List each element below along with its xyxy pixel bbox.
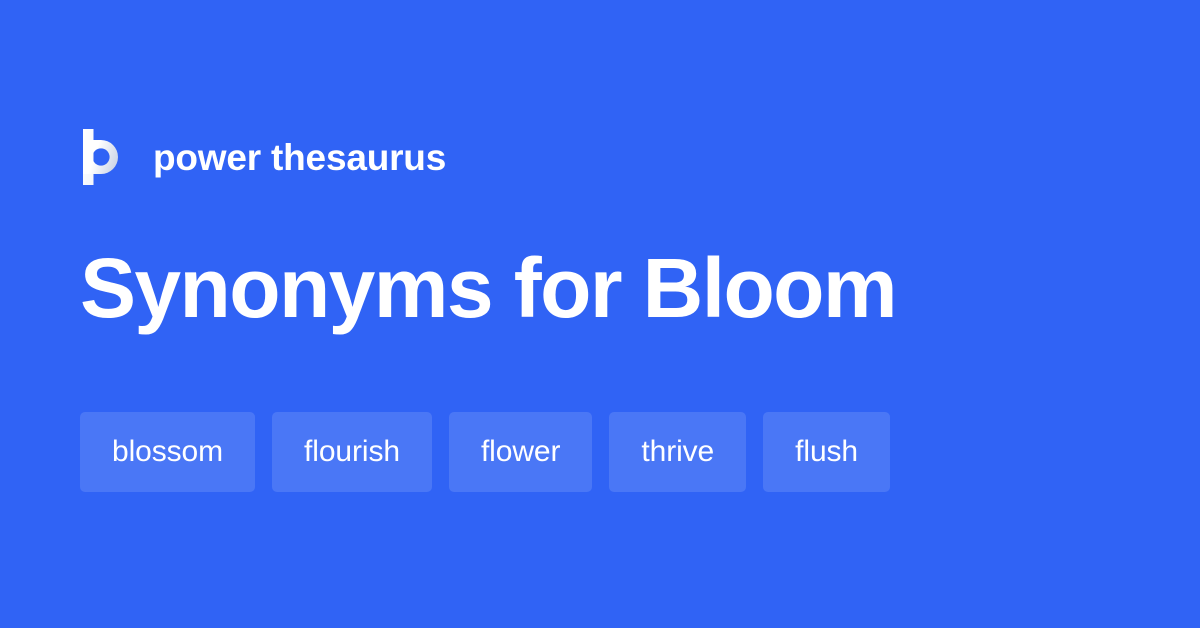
synonym-chip[interactable]: flourish [272,412,432,492]
synonym-chip[interactable]: thrive [609,412,746,492]
share-card: power thesaurus Synonyms for Bloom bloss… [0,0,1200,628]
page-title: Synonyms for Bloom [80,243,896,334]
synonym-chip[interactable]: flower [449,412,592,492]
synonym-chip-label: flush [795,437,858,467]
synonym-chip-list: blossom flourish flower thrive flush [80,412,890,492]
power-thesaurus-b-logo-icon [80,129,124,185]
synonym-chip-label: flourish [304,437,400,467]
brand-header[interactable]: power thesaurus [80,126,446,188]
brand-name: power thesaurus [153,139,446,176]
synonym-chip-label: flower [481,437,560,467]
synonym-chip-label: thrive [641,437,714,467]
synonym-chip[interactable]: flush [763,412,890,492]
synonym-chip[interactable]: blossom [80,412,255,492]
synonym-chip-label: blossom [112,437,223,467]
